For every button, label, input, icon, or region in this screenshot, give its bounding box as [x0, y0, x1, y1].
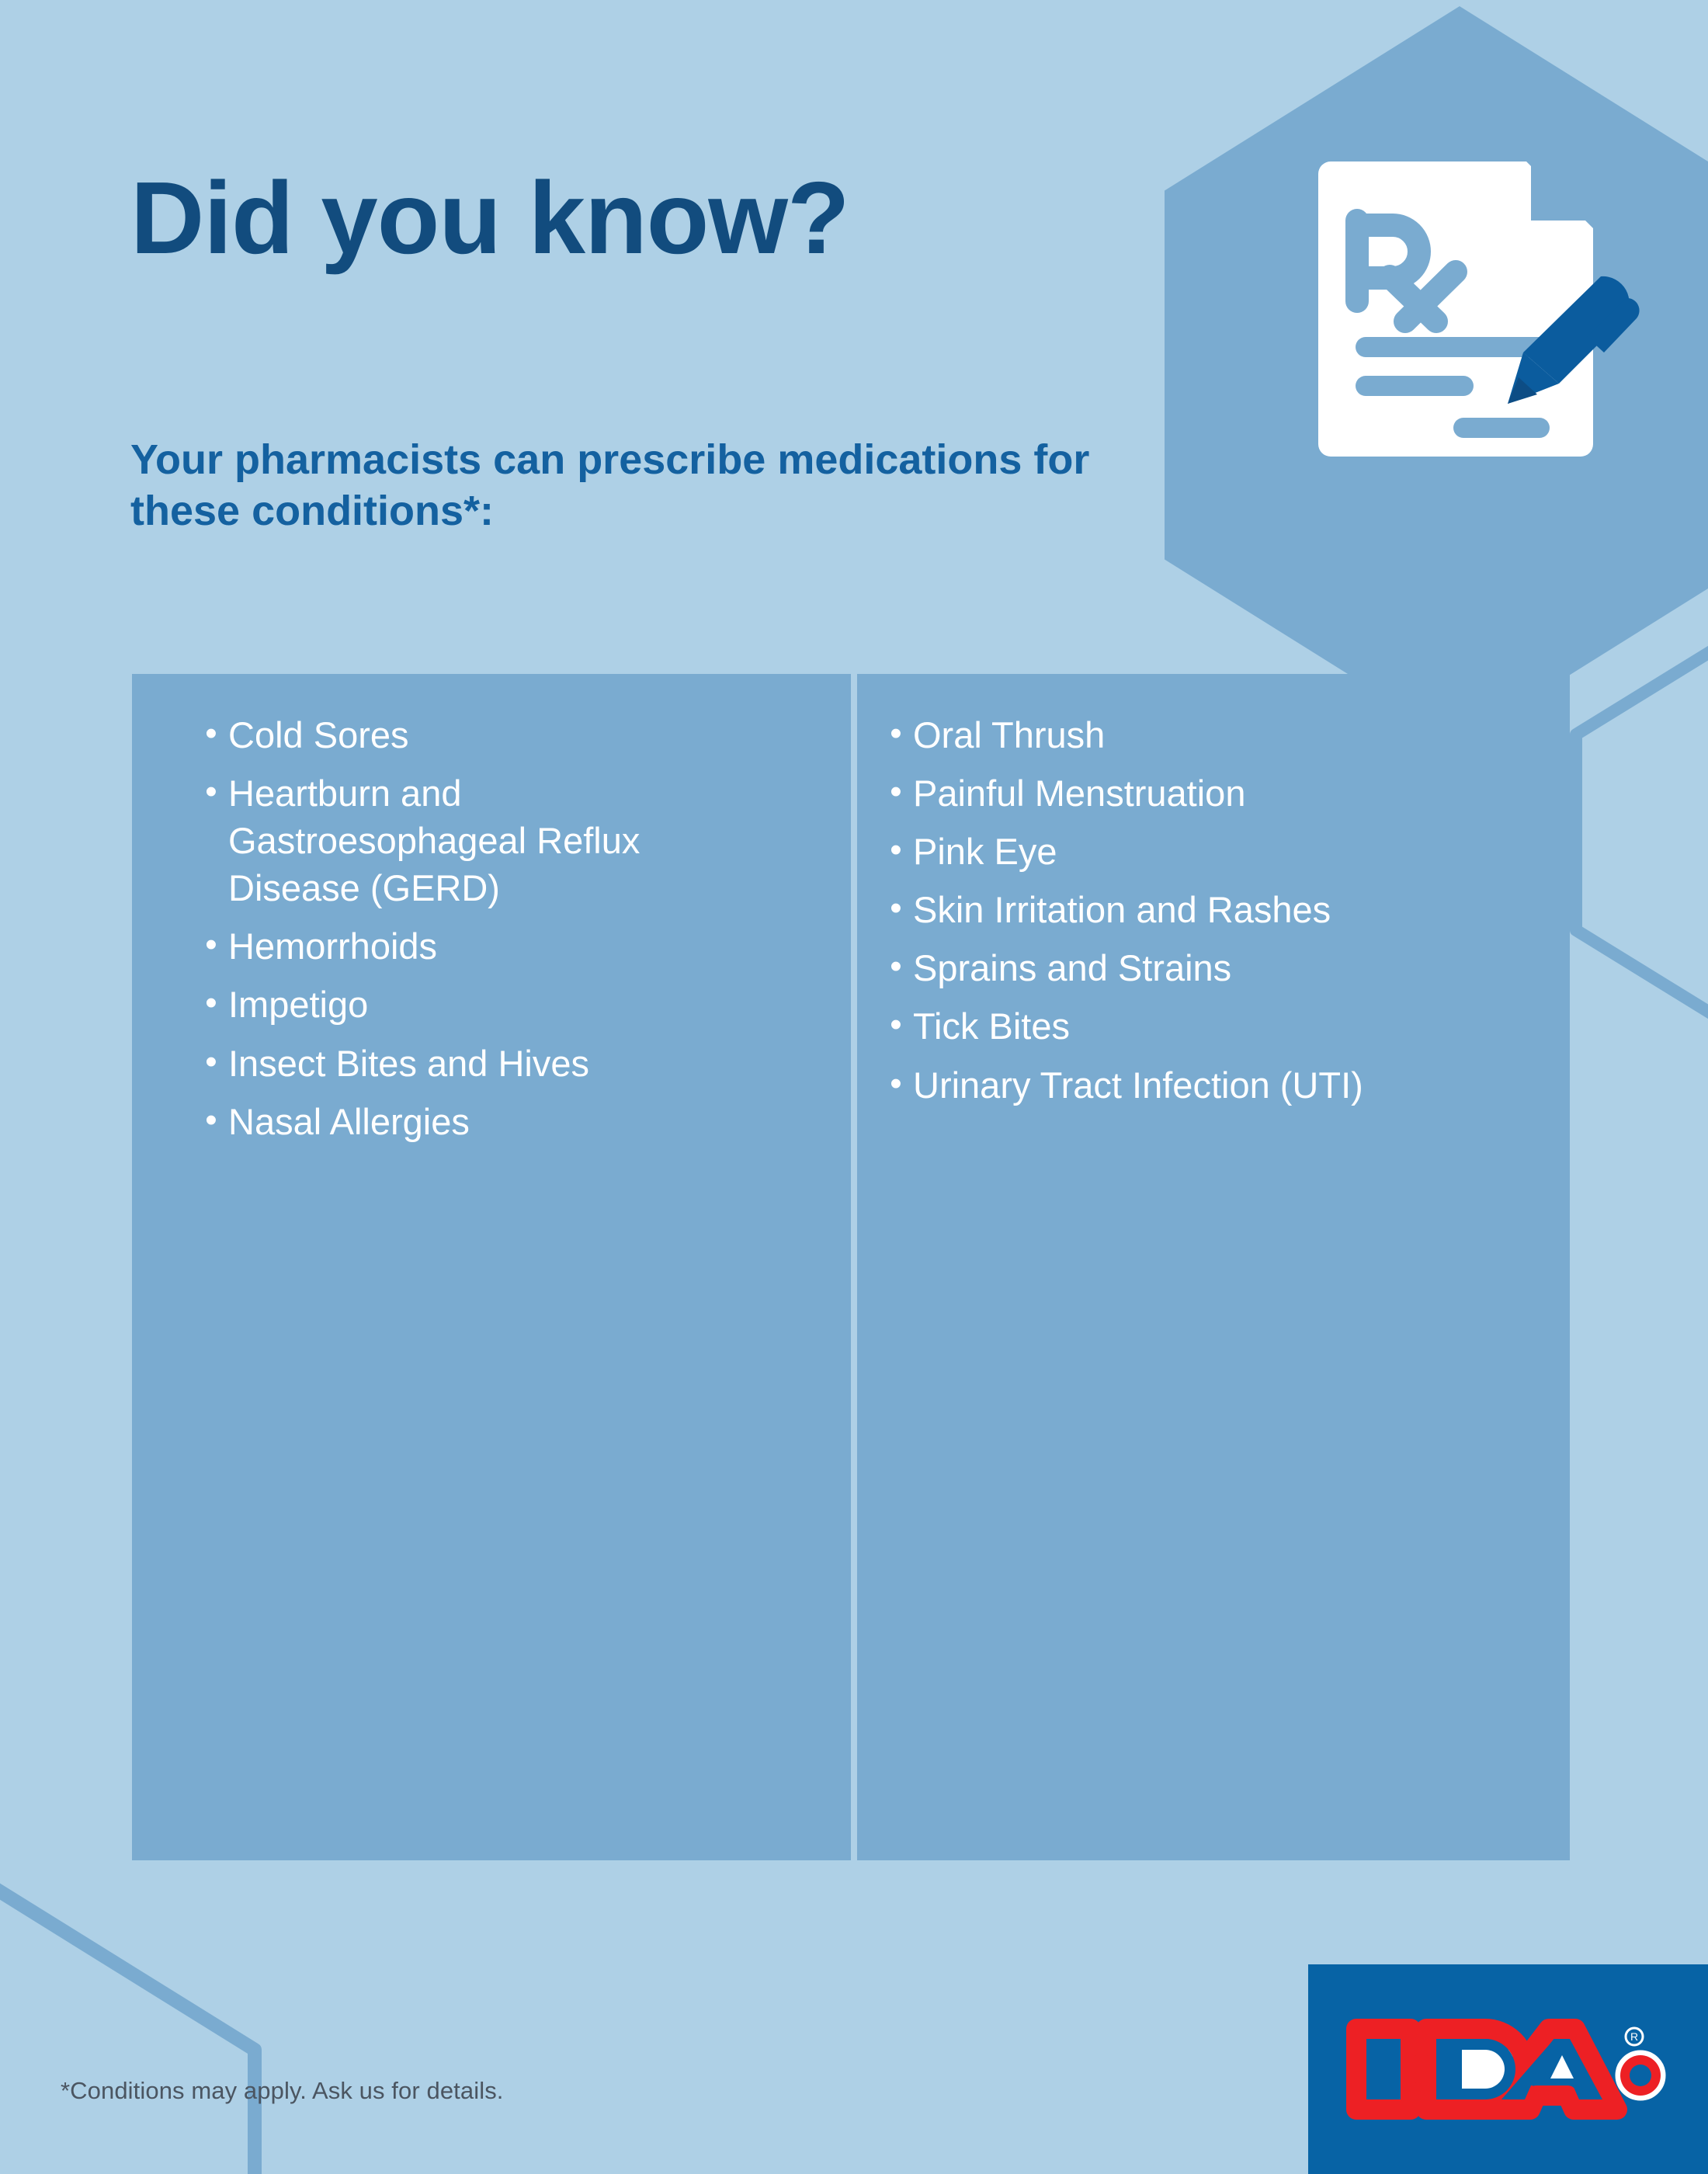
condition-label: Oral Thrush: [913, 711, 1547, 759]
condition-label: Sprains and Strains: [913, 944, 1547, 991]
list-item: • Oral Thrush: [879, 711, 1547, 759]
bullet-icon: •: [194, 769, 228, 912]
list-item: • Hemorrhoids: [194, 922, 804, 970]
bullet-icon: •: [879, 1002, 913, 1050]
bullet-icon: •: [879, 886, 913, 933]
conditions-panels: • Cold Sores • Heartburn and Gastroesoph…: [132, 674, 1570, 1860]
bullet-icon: •: [194, 922, 228, 970]
footnote-text: *Conditions may apply. Ask us for detail…: [61, 2077, 504, 2105]
condition-label: Tick Bites: [913, 1002, 1547, 1050]
bullet-icon: •: [879, 769, 913, 817]
poster-canvas: Did you know? Your pharmacists can presc…: [0, 0, 1708, 2174]
condition-label: Nasal Allergies: [228, 1098, 741, 1145]
conditions-panel-left: • Cold Sores • Heartburn and Gastroesoph…: [132, 674, 851, 1860]
condition-label: Skin Irritation and Rashes: [913, 886, 1547, 933]
bullet-icon: •: [194, 981, 228, 1028]
condition-label: Heartburn and Gastroesophageal Reflux Di…: [228, 769, 741, 912]
list-item: • Insect Bites and Hives: [194, 1040, 804, 1087]
bullet-icon: •: [879, 711, 913, 759]
list-item: • Sprains and Strains: [879, 944, 1547, 991]
hexagon-decoration-right: [1567, 630, 1708, 1034]
condition-label: Urinary Tract Infection (UTI): [913, 1061, 1547, 1109]
bullet-icon: •: [194, 1040, 228, 1087]
svg-text:R: R: [1630, 2030, 1637, 2043]
list-item: • Tick Bites: [879, 1002, 1547, 1050]
registered-trademark-icon: R: [1626, 2028, 1643, 2045]
condition-label: Hemorrhoids: [228, 922, 741, 970]
hexagon-decoration-bottom-left: [0, 1877, 264, 2174]
bullet-icon: •: [879, 828, 913, 875]
conditions-panel-right: • Oral Thrush • Painful Menstruation • P…: [857, 674, 1570, 1860]
bullet-icon: •: [194, 1098, 228, 1145]
condition-label: Impetigo: [228, 981, 741, 1028]
bullet-icon: •: [879, 1061, 913, 1109]
list-item: • Painful Menstruation: [879, 769, 1547, 817]
condition-label: Painful Menstruation: [913, 769, 1547, 817]
bullet-icon: •: [879, 944, 913, 991]
list-item: • Urinary Tract Infection (UTI): [879, 1061, 1547, 1109]
condition-label: Insect Bites and Hives: [228, 1040, 741, 1087]
list-item: • Skin Irritation and Rashes: [879, 886, 1547, 933]
list-item: • Pink Eye: [879, 828, 1547, 875]
list-item: • Cold Sores: [194, 711, 804, 759]
condition-label: Pink Eye: [913, 828, 1547, 875]
condition-label: Cold Sores: [228, 711, 741, 759]
conditions-list-right: • Oral Thrush • Painful Menstruation • P…: [857, 711, 1570, 1109]
ida-logo-block: R: [1308, 1964, 1708, 2174]
conditions-list-left: • Cold Sores • Heartburn and Gastroesoph…: [132, 711, 851, 1145]
rx-prescription-pen-icon: [1312, 154, 1669, 495]
ida-pharmacy-logo: R: [1345, 2015, 1672, 2124]
list-item: • Heartburn and Gastroesophageal Reflux …: [194, 769, 804, 912]
list-item: • Nasal Allergies: [194, 1098, 804, 1145]
page-title: Did you know?: [130, 167, 849, 269]
subheading: Your pharmacists can prescribe medicatio…: [130, 435, 1132, 537]
list-item: • Impetigo: [194, 981, 804, 1028]
bullet-icon: •: [194, 711, 228, 759]
